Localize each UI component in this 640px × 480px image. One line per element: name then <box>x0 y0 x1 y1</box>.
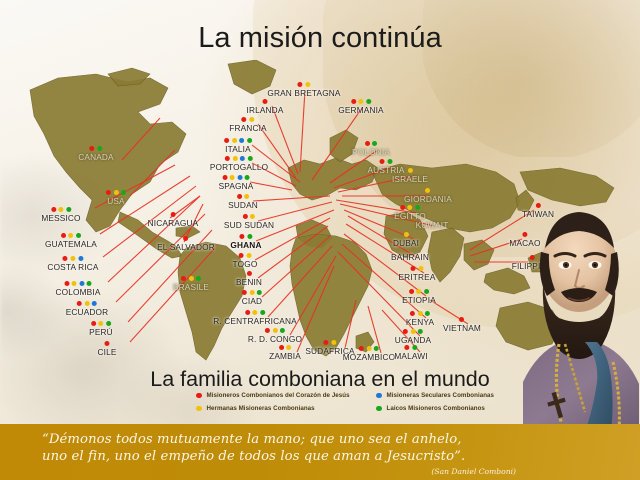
branch-dot-red-icon <box>265 328 270 333</box>
branch-dot-green-icon <box>76 233 81 238</box>
location-dot-group <box>229 117 266 122</box>
legend-item-red[interactable]: Misioneros Combonianos del Corazón de Je… <box>196 392 366 399</box>
location-label: USA <box>106 196 126 206</box>
legend-label: Hermanas Misioneras Combonianas <box>207 405 315 412</box>
branch-dot-red-icon <box>181 276 186 281</box>
branch-dot-red-icon <box>239 253 244 258</box>
map-location-nicaragua[interactable]: NICARAGUA <box>148 212 199 228</box>
location-dot-group <box>41 207 80 212</box>
branch-dot-green-icon <box>387 159 392 164</box>
map-location-etiopia[interactable]: ETIOPIA <box>402 289 436 305</box>
map-location-gran-bretagna[interactable]: GRAN BRETAGNA <box>267 82 340 98</box>
location-label: COSTA RICA <box>47 262 98 272</box>
legend-swatch-blue-icon <box>376 393 382 399</box>
branch-dot-green-icon <box>374 346 379 351</box>
location-dot-group <box>267 82 340 87</box>
branch-dot-yellow-icon <box>233 156 238 161</box>
map-location-colombia[interactable]: COLOMBIA <box>56 281 101 297</box>
branch-dot-green-icon <box>257 290 262 295</box>
location-dot-group <box>89 321 113 326</box>
branch-dot-red-icon <box>409 289 414 294</box>
map-location-portogallo[interactable]: PORTOGALLO <box>210 156 268 172</box>
map-location-costa-rica[interactable]: COSTA RICA <box>47 256 98 272</box>
location-dot-group <box>402 289 436 294</box>
location-dot-group <box>233 253 258 258</box>
location-dot-group <box>305 340 354 345</box>
branch-dot-yellow-icon <box>416 289 421 294</box>
map-location-r-d-congo[interactable]: R. D. CONGO <box>248 328 302 344</box>
branch-dot-yellow-icon <box>272 328 277 333</box>
location-label: GERMANIA <box>338 105 383 115</box>
location-label: SPAGNA <box>219 181 254 191</box>
location-label: BAHRAIN <box>391 252 429 262</box>
location-dot-group <box>398 266 435 271</box>
branch-dot-red-icon <box>460 317 465 322</box>
legend-item-yellow[interactable]: Hermanas Misioneras Combonianas <box>196 405 366 412</box>
map-location-el-salvador[interactable]: EL SALVADOR <box>157 236 215 252</box>
branch-dot-green-icon <box>121 190 126 195</box>
location-dot-group <box>269 345 301 350</box>
location-label: BENIN <box>236 277 262 287</box>
location-dot-group <box>224 214 274 219</box>
branch-dot-red-icon <box>359 346 364 351</box>
location-dot-group <box>210 156 268 161</box>
map-location-dubai[interactable]: DUBAI <box>393 232 419 248</box>
branch-dot-red-icon <box>279 345 284 350</box>
portrait-daniel-comboni <box>515 186 640 431</box>
location-label: PERÚ <box>89 327 113 337</box>
branch-dot-red-icon <box>106 190 111 195</box>
branch-dot-yellow-icon <box>230 175 235 180</box>
branch-dot-red-icon <box>405 345 410 350</box>
location-dot-group <box>394 205 426 210</box>
location-label: SUDAN <box>228 200 258 210</box>
branch-dot-yellow-icon <box>246 253 251 258</box>
branch-dot-blue-icon <box>240 156 245 161</box>
branch-dot-red-icon <box>183 236 188 241</box>
location-dot-group <box>443 317 481 322</box>
location-dot-group <box>367 159 404 164</box>
location-dot-group <box>352 141 390 146</box>
branch-dot-yellow-icon <box>331 340 336 345</box>
branch-dot-yellow-icon <box>58 207 63 212</box>
branch-dot-blue-icon <box>79 281 84 286</box>
map-location-ghana[interactable]: GHANA <box>230 234 261 250</box>
branch-dot-yellow-icon <box>68 233 73 238</box>
legend-swatch-green-icon <box>376 406 382 412</box>
branch-dot-red-icon <box>222 175 227 180</box>
location-dot-group <box>406 311 434 316</box>
branch-dot-yellow-icon <box>188 276 193 281</box>
map-location-italia[interactable]: ITALIA <box>224 138 252 154</box>
map-location-brasile[interactable]: BRASILE <box>173 276 209 292</box>
map-location-togo[interactable]: TOGO <box>233 253 258 269</box>
branch-dot-red-icon <box>400 205 405 210</box>
branch-dot-red-icon <box>410 311 415 316</box>
location-label: GIORDANIA <box>404 194 452 204</box>
map-location-r-centrafricana[interactable]: R. CENTRAFRICANA <box>213 310 297 326</box>
map-location-bahrain[interactable]: BAHRAIN <box>391 251 429 262</box>
connector-line <box>250 182 292 190</box>
branch-dot-yellow-icon <box>249 117 254 122</box>
location-dot-group <box>395 329 431 334</box>
location-dot-group <box>392 168 428 173</box>
location-label: NICARAGUA <box>148 218 199 228</box>
map-location-malawi[interactable]: MALAWI <box>394 345 427 361</box>
branch-dot-yellow-icon <box>403 232 408 237</box>
location-label: ZAMBIA <box>269 351 301 361</box>
connector-line <box>130 248 215 342</box>
map-location-sud-sudan[interactable]: SUD SUDAN <box>224 214 274 230</box>
location-label: VIETNAM <box>443 323 481 333</box>
branch-dot-yellow-icon <box>407 168 412 173</box>
location-label: PORTOGALLO <box>210 162 268 172</box>
location-dot-group <box>246 99 283 104</box>
branch-dot-red-icon <box>380 159 385 164</box>
map-location-ciad[interactable]: CIAD <box>242 290 262 306</box>
location-dot-group <box>394 345 427 350</box>
map-location-per[interactable]: PERÚ <box>89 321 113 337</box>
location-label: R. D. CONGO <box>248 334 302 344</box>
location-label: BRASILE <box>173 282 209 292</box>
map-location-polonia[interactable]: POLONIA <box>352 141 390 157</box>
location-label: MALAWI <box>394 351 427 361</box>
location-label: POLONIA <box>352 147 390 157</box>
location-label: CILE <box>97 347 116 357</box>
branch-dot-red-icon <box>51 207 56 212</box>
location-dot-group <box>393 232 419 237</box>
location-label: R. CENTRAFRICANA <box>213 316 297 326</box>
branch-dot-red-icon <box>90 146 95 151</box>
branch-dot-yellow-icon <box>84 301 89 306</box>
branch-dot-green-icon <box>415 205 420 210</box>
branch-dot-yellow-icon <box>407 205 412 210</box>
location-dot-group <box>404 188 452 193</box>
branch-dot-green-icon <box>247 234 252 239</box>
map-location-francia[interactable]: FRANCIA <box>229 117 266 133</box>
map-location-cile[interactable]: CILE <box>97 341 116 357</box>
legend-label: Misioneras Seculares Combonianas <box>387 392 495 399</box>
location-dot-group <box>106 190 126 195</box>
branch-dot-blue-icon <box>92 301 97 306</box>
location-label: MOZAMBICO <box>343 352 396 362</box>
location-dot-group <box>338 99 383 104</box>
legend-swatch-red-icon <box>196 393 202 399</box>
branch-dot-red-icon <box>411 266 416 271</box>
branch-dot-green-icon <box>280 328 285 333</box>
branch-dot-red-icon <box>243 214 248 219</box>
location-label: DUBAI <box>393 238 419 248</box>
location-dot-group <box>230 234 261 239</box>
legend: Misioneros Combonianos del Corazón de Je… <box>196 392 546 412</box>
branch-dot-blue-icon <box>239 138 244 143</box>
branch-dot-green-icon <box>372 141 377 146</box>
branch-dot-yellow-icon <box>253 310 258 315</box>
branch-dot-green-icon <box>247 138 252 143</box>
location-dot-group <box>78 146 113 151</box>
location-dot-group <box>213 310 297 315</box>
branch-dot-green-icon <box>418 329 423 334</box>
branch-dot-yellow-icon <box>411 329 416 334</box>
location-label: CIAD <box>242 296 262 306</box>
branch-dot-yellow-icon <box>366 346 371 351</box>
branch-dot-green-icon <box>248 156 253 161</box>
branch-dot-red-icon <box>242 290 247 295</box>
location-label: ETIOPIA <box>402 295 436 305</box>
map-location-spagna[interactable]: SPAGNA <box>219 175 254 191</box>
branch-dot-blue-icon <box>237 175 242 180</box>
location-label: GHANA <box>230 240 261 250</box>
location-dot-group <box>173 276 209 281</box>
location-label: IRLANDA <box>246 105 283 115</box>
branch-dot-red-icon <box>245 310 250 315</box>
branch-dot-red-icon <box>91 321 96 326</box>
branch-dot-yellow-icon <box>359 99 364 104</box>
location-dot-group <box>224 138 252 143</box>
branch-dot-red-icon <box>240 234 245 239</box>
branch-dot-yellow-icon <box>425 188 430 193</box>
branch-dot-yellow-icon <box>250 290 255 295</box>
map-location-canada[interactable]: CANADA <box>78 146 113 162</box>
location-label: EL SALVADOR <box>157 242 215 252</box>
branch-dot-red-icon <box>104 341 109 346</box>
location-dot-group <box>47 256 98 261</box>
branch-dot-green-icon <box>97 146 102 151</box>
branch-dot-yellow-icon <box>286 345 291 350</box>
location-dot-group <box>242 290 262 295</box>
branch-dot-green-icon <box>87 281 92 286</box>
map-location-guatemala[interactable]: GUATEMALA <box>45 233 97 249</box>
branch-dot-yellow-icon <box>114 190 119 195</box>
branch-dot-yellow-icon <box>99 321 104 326</box>
location-dot-group <box>148 212 199 217</box>
branch-dot-red-icon <box>324 340 329 345</box>
location-label: SUD SUDAN <box>224 220 274 230</box>
location-label: UGANDA <box>395 335 431 345</box>
branch-dot-red-icon <box>246 271 251 276</box>
branch-dot-red-icon <box>224 138 229 143</box>
branch-dot-red-icon <box>64 281 69 286</box>
map-location-kenya[interactable]: KENYA <box>406 311 434 327</box>
branch-dot-red-icon <box>351 99 356 104</box>
map-location-messico[interactable]: MESSICO <box>41 207 80 223</box>
map-location-germania[interactable]: GERMANIA <box>338 99 383 115</box>
legend-label: Laicos Misioneros Combonianos <box>387 405 485 412</box>
branch-dot-green-icon <box>196 276 201 281</box>
location-dot-group <box>219 175 254 180</box>
branch-dot-green-icon <box>366 99 371 104</box>
slide-canvas: La misión continúa <box>0 0 640 480</box>
location-label: FRANCIA <box>229 123 266 133</box>
branch-dot-green-icon <box>245 175 250 180</box>
map-location-mozambico[interactable]: MOZAMBICO <box>343 346 396 362</box>
map-location-kuwait[interactable]: KUWAIT <box>416 219 449 230</box>
map-location-usa[interactable]: USA <box>106 190 126 206</box>
branch-dot-green-icon <box>425 311 430 316</box>
branch-dot-red-icon <box>171 212 176 217</box>
map-location-israele[interactable]: ISRAELE <box>392 168 428 184</box>
branch-dot-green-icon <box>106 321 111 326</box>
location-label: TOGO <box>233 259 258 269</box>
connector-line <box>130 150 175 196</box>
location-dot-group <box>228 194 258 199</box>
map-location-sudan[interactable]: SUDAN <box>228 194 258 210</box>
branch-dot-red-icon <box>403 329 408 334</box>
branch-dot-red-icon <box>298 82 303 87</box>
location-label: KUWAIT <box>416 220 449 230</box>
branch-dot-green-icon <box>424 289 429 294</box>
location-dot-group <box>343 346 396 351</box>
branch-dot-red-icon <box>242 117 247 122</box>
connector-line <box>300 90 305 172</box>
branch-dot-red-icon <box>262 99 267 104</box>
connector-line <box>253 196 330 201</box>
branch-dot-red-icon <box>225 156 230 161</box>
quote-attribution: (San Daniel Comboni) <box>431 467 516 476</box>
branch-dot-yellow-icon <box>305 82 310 87</box>
map-location-zambia[interactable]: ZAMBIA <box>269 345 301 361</box>
location-dot-group <box>66 301 109 306</box>
branch-dot-red-icon <box>77 301 82 306</box>
quote-band: “Démonos todos mutuamente la mano; que u… <box>0 424 640 480</box>
location-dot-group <box>45 233 97 238</box>
map-location-uganda[interactable]: UGANDA <box>395 329 431 345</box>
location-label: COLOMBIA <box>56 287 101 297</box>
branch-dot-red-icon <box>365 141 370 146</box>
location-label: CANADA <box>78 152 113 162</box>
location-dot-group <box>157 236 215 241</box>
map-location-eritrea[interactable]: ERITREA <box>398 266 435 282</box>
location-label: ECUADOR <box>66 307 109 317</box>
location-label: ITALIA <box>224 144 252 154</box>
branch-dot-blue-icon <box>78 256 83 261</box>
location-dot-group <box>248 328 302 333</box>
map-location-ecuador[interactable]: ECUADOR <box>66 301 109 317</box>
location-label: KENYA <box>406 317 434 327</box>
location-label: GRAN BRETAGNA <box>267 88 340 98</box>
connector-line <box>268 246 332 317</box>
location-dot-group <box>236 271 262 276</box>
branch-dot-red-icon <box>61 233 66 238</box>
location-dot-group <box>97 341 116 346</box>
branch-dot-green-icon <box>260 310 265 315</box>
map-location-vietnam[interactable]: VIETNAM <box>443 317 481 333</box>
branch-dot-yellow-icon <box>70 256 75 261</box>
map-location-benin[interactable]: BENIN <box>236 271 262 287</box>
connector-line <box>122 118 160 160</box>
branch-dot-yellow-icon <box>232 138 237 143</box>
location-label: GUATEMALA <box>45 239 97 249</box>
branch-dot-yellow-icon <box>417 311 422 316</box>
legend-swatch-yellow-icon <box>196 406 202 412</box>
branch-dot-red-icon <box>237 194 242 199</box>
location-label: MESSICO <box>41 213 80 223</box>
branch-dot-green-icon <box>412 345 417 350</box>
location-dot-group <box>56 281 101 286</box>
branch-dot-yellow-icon <box>72 281 77 286</box>
comboni-quote: “Démonos todos mutuamente la mano; que u… <box>42 432 482 465</box>
branch-dot-red-icon <box>63 256 68 261</box>
location-label: ERITREA <box>398 272 435 282</box>
branch-dot-yellow-icon <box>418 266 423 271</box>
map-location-giordania[interactable]: GIORDANIA <box>404 188 452 204</box>
location-label: ISRAELE <box>392 174 428 184</box>
branch-dot-green-icon <box>66 207 71 212</box>
connector-line <box>262 236 330 297</box>
legend-label: Misioneros Combonianos del Corazón de Je… <box>207 392 350 399</box>
map-location-irlanda[interactable]: IRLANDA <box>246 99 283 115</box>
branch-dot-yellow-icon <box>250 214 255 219</box>
branch-dot-yellow-icon <box>244 194 249 199</box>
